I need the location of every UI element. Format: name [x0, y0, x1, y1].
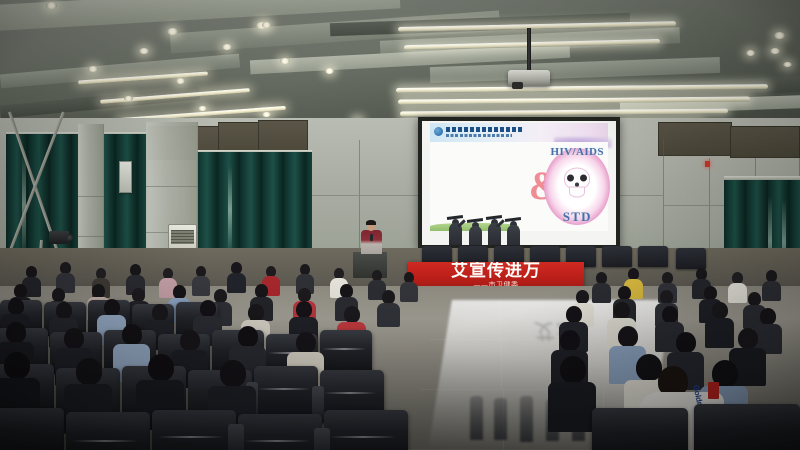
projector-lens-icon: [512, 82, 523, 89]
auditorium-seat[interactable]: [66, 412, 150, 450]
exit-indicator-icon: [705, 161, 710, 167]
auditorium-seat[interactable]: [324, 410, 408, 450]
downlight: [198, 106, 207, 111]
banner-main-text: 艾宣传进万: [408, 262, 584, 281]
downlight: [222, 44, 232, 50]
downlight: [774, 32, 785, 39]
downlight: [770, 48, 780, 54]
camera-lens-icon: [66, 234, 73, 241]
auditorium-seat[interactable]: [592, 408, 688, 450]
auditorium-seat[interactable]: [254, 366, 318, 418]
downlight: [124, 96, 133, 101]
projection-screen: & HIV/AIDS STD: [418, 117, 620, 249]
slide-header-title-line: [446, 127, 522, 132]
auditorium-seat[interactable]: [0, 408, 64, 450]
slide-header-subtitle-line: [446, 134, 512, 137]
downlight: [167, 28, 178, 35]
stage-chair: [602, 246, 632, 267]
microphone-icon: [370, 234, 373, 241]
wall-speaker: [119, 161, 132, 193]
downlight: [46, 2, 57, 9]
jacket-logo-patch: [708, 382, 719, 399]
slide-std-label: STD: [554, 209, 601, 225]
downlight: [139, 48, 149, 54]
stage-chair: [676, 248, 706, 269]
auditorium-seat[interactable]: [152, 410, 236, 450]
auditorium-photo: & HIV/AIDS STD: [0, 0, 800, 450]
auditorium-seat[interactable]: [238, 414, 322, 450]
org-seal-icon: [434, 127, 443, 136]
downlight: [262, 22, 271, 28]
ac-grille-icon: [171, 230, 194, 244]
downlight: [176, 78, 185, 84]
ceiling: [0, 0, 800, 132]
downlight: [325, 68, 334, 74]
auditorium-seat[interactable]: [320, 330, 372, 372]
downlight: [88, 66, 98, 72]
projector-mount-rod: [527, 28, 531, 73]
downlight: [746, 50, 755, 56]
downlight: [783, 62, 792, 67]
slide-hiv-label: HIV/AIDS: [545, 146, 609, 158]
stage-chair: [638, 246, 668, 267]
presenter-hair: [366, 220, 376, 225]
downlight: [262, 112, 271, 117]
auditorium-seat[interactable]: [694, 404, 800, 450]
skull-icon: [562, 167, 592, 200]
downlight: [280, 58, 290, 64]
